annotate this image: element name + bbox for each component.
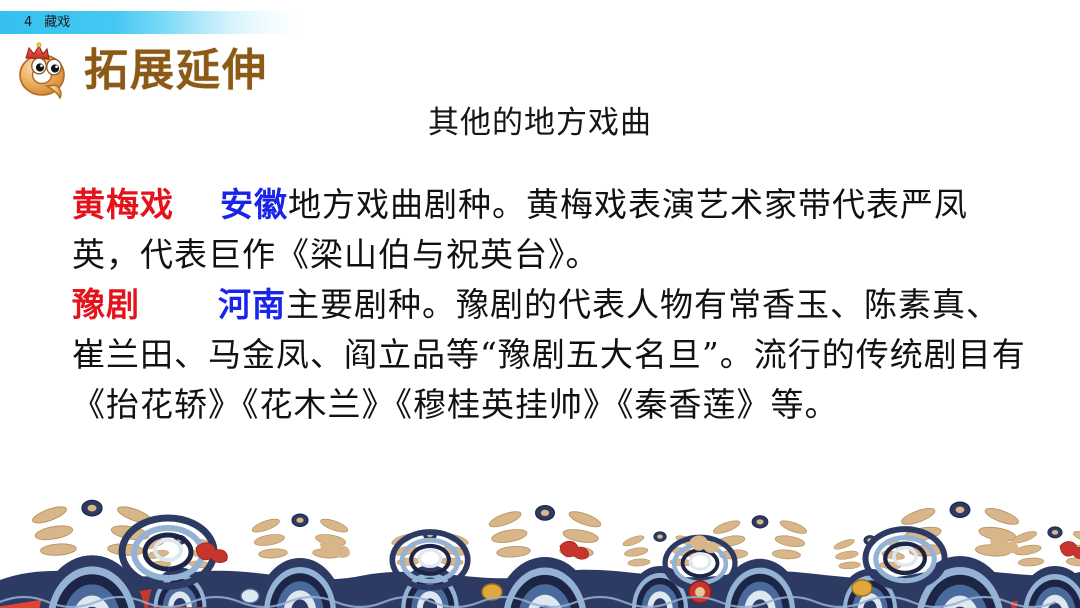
region-henan: 河南: [218, 285, 286, 324]
paragraph-huangmeixi-text: 地方戏曲剧种。黄梅戏表演艺术家带代表严凤英，代表巨作《梁山伯与祝英台》。: [72, 185, 968, 274]
lesson-bar-label: 4藏戏: [24, 12, 70, 33]
paragraph-yuju: 豫剧河南主要剧种。豫剧的代表人物有常香玉、陈素真、崔兰田、马金凤、阎立品等“豫剧…: [72, 280, 1032, 430]
lesson-number: 4: [24, 15, 32, 30]
opera-name-yuju: 豫剧: [72, 285, 140, 324]
paragraph-huangmeixi: 黄梅戏安徽地方戏曲剧种。黄梅戏表演艺术家带代表严凤英，代表巨作《梁山伯与祝英台》…: [72, 180, 1032, 280]
presentation-slide: 4藏戏: [0, 0, 1080, 608]
slide-body: 黄梅戏安徽地方戏曲剧种。黄梅戏表演艺术家带代表严凤英，代表巨作《梁山伯与祝英台》…: [72, 180, 1032, 430]
q-mascot-icon: [14, 42, 76, 100]
section-heading: 拓展延伸: [14, 42, 268, 100]
slide-subtitle: 其他的地方戏曲: [0, 103, 1080, 143]
paragraph-yuju-text: 主要剧种。豫剧的代表人物有常香玉、陈素真、崔兰田、马金凤、阎立品等“豫剧五大名旦…: [72, 285, 1026, 424]
region-anhui: 安徽: [220, 185, 288, 224]
lesson-title: 藏戏: [44, 15, 70, 30]
chinese-sea-wave-cliff-border: [0, 488, 1080, 608]
section-heading-title: 拓展延伸: [84, 49, 268, 93]
opera-name-huangmeixi: 黄梅戏: [72, 185, 174, 224]
